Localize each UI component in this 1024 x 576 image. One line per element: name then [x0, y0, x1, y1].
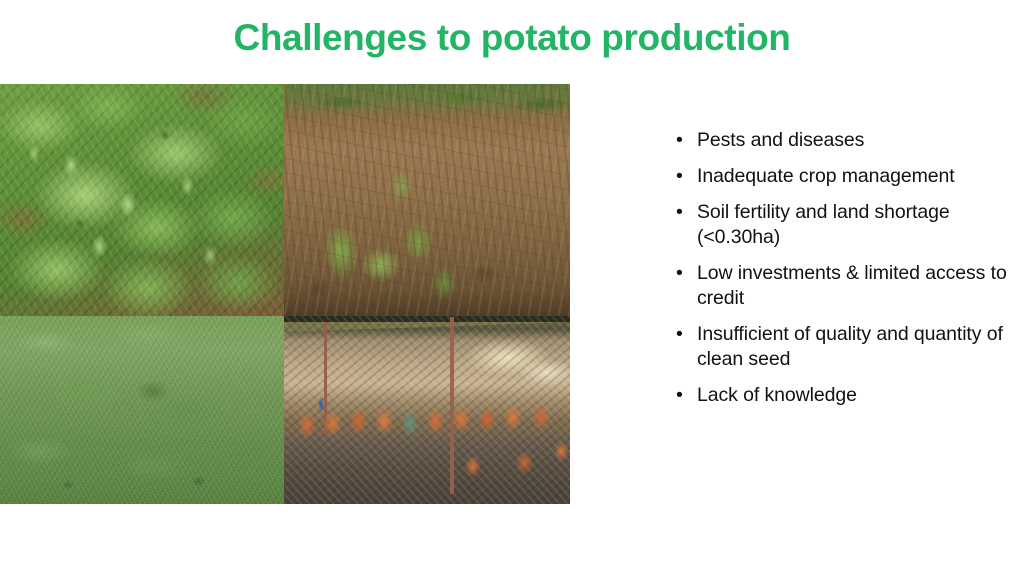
bullet-marker-icon: •: [676, 164, 697, 189]
list-item-label: Low investments & limited access to cred…: [697, 261, 1020, 311]
photo-grid: [0, 84, 570, 504]
bullet-marker-icon: •: [676, 261, 697, 286]
photo-potato-storage-shed: [284, 316, 570, 504]
photo-healthy-potato-field: [0, 84, 284, 316]
bullet-marker-icon: •: [676, 322, 697, 347]
list-item: • Soil fertility and land shortage (<0.3…: [676, 200, 1020, 250]
list-item: • Low investments & limited access to cr…: [676, 261, 1020, 311]
photo-diseased-potato-plants: [284, 84, 570, 316]
bullet-marker-icon: •: [676, 128, 697, 153]
bullet-marker-icon: •: [676, 200, 697, 225]
list-item: • Lack of knowledge: [676, 383, 1020, 408]
list-item-label: Pests and diseases: [697, 128, 1020, 153]
list-item-label: Lack of knowledge: [697, 383, 1020, 408]
slide: Challenges to potato production • Pests …: [0, 0, 1024, 576]
list-item: • Pests and diseases: [676, 128, 1020, 153]
list-item-label: Insufficient of quality and quantity of …: [697, 322, 1020, 372]
list-item-label: Inadequate crop management: [697, 164, 1020, 189]
photo-crop-field-wide: [0, 316, 284, 504]
challenges-bullet-list: • Pests and diseases • Inadequate crop m…: [676, 128, 1020, 419]
list-item-label: Soil fertility and land shortage (<0.30h…: [697, 200, 1020, 250]
page-title: Challenges to potato production: [0, 16, 1024, 60]
bullet-marker-icon: •: [676, 383, 697, 408]
list-item: • Inadequate crop management: [676, 164, 1020, 189]
list-item: • Insufficient of quality and quantity o…: [676, 322, 1020, 372]
